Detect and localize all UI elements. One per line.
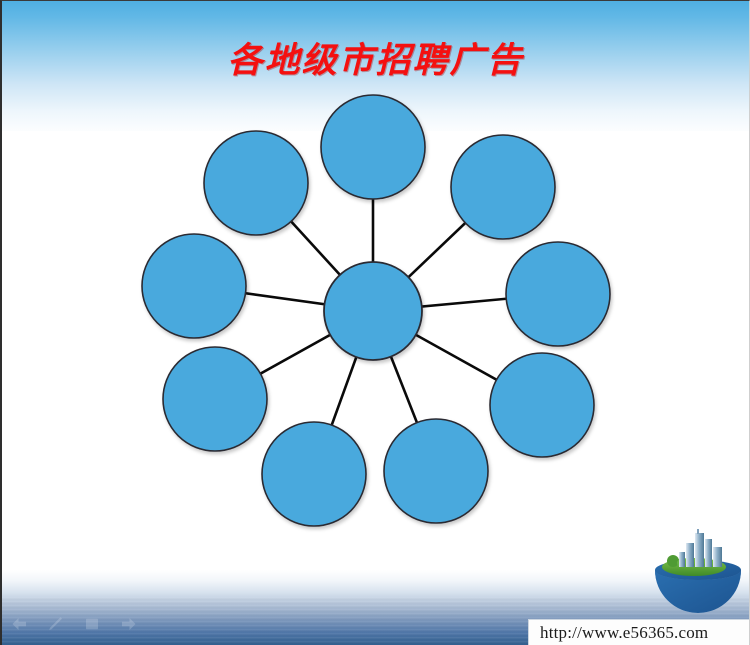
outer-node-6[interactable]	[262, 422, 366, 526]
outer-node-9[interactable]	[204, 131, 308, 235]
center-node-group	[324, 262, 422, 360]
globe-city-logo	[650, 525, 746, 617]
outer-node-8[interactable]	[142, 234, 246, 338]
center-node[interactable]	[324, 262, 422, 360]
outer-node-7[interactable]	[163, 347, 267, 451]
footer-url-bar: http://www.e56365.com	[528, 619, 750, 645]
website-url: http://www.e56365.com	[540, 623, 708, 643]
outer-node-5[interactable]	[384, 419, 488, 523]
outer-node-4[interactable]	[490, 353, 594, 457]
hub-and-spoke-diagram	[2, 1, 750, 645]
outer-node-1[interactable]	[321, 95, 425, 199]
outer-node-2[interactable]	[451, 135, 555, 239]
outer-node-3[interactable]	[506, 242, 610, 346]
tree-icon	[667, 555, 679, 567]
slide-canvas: 各地级市招聘广告	[0, 0, 750, 645]
